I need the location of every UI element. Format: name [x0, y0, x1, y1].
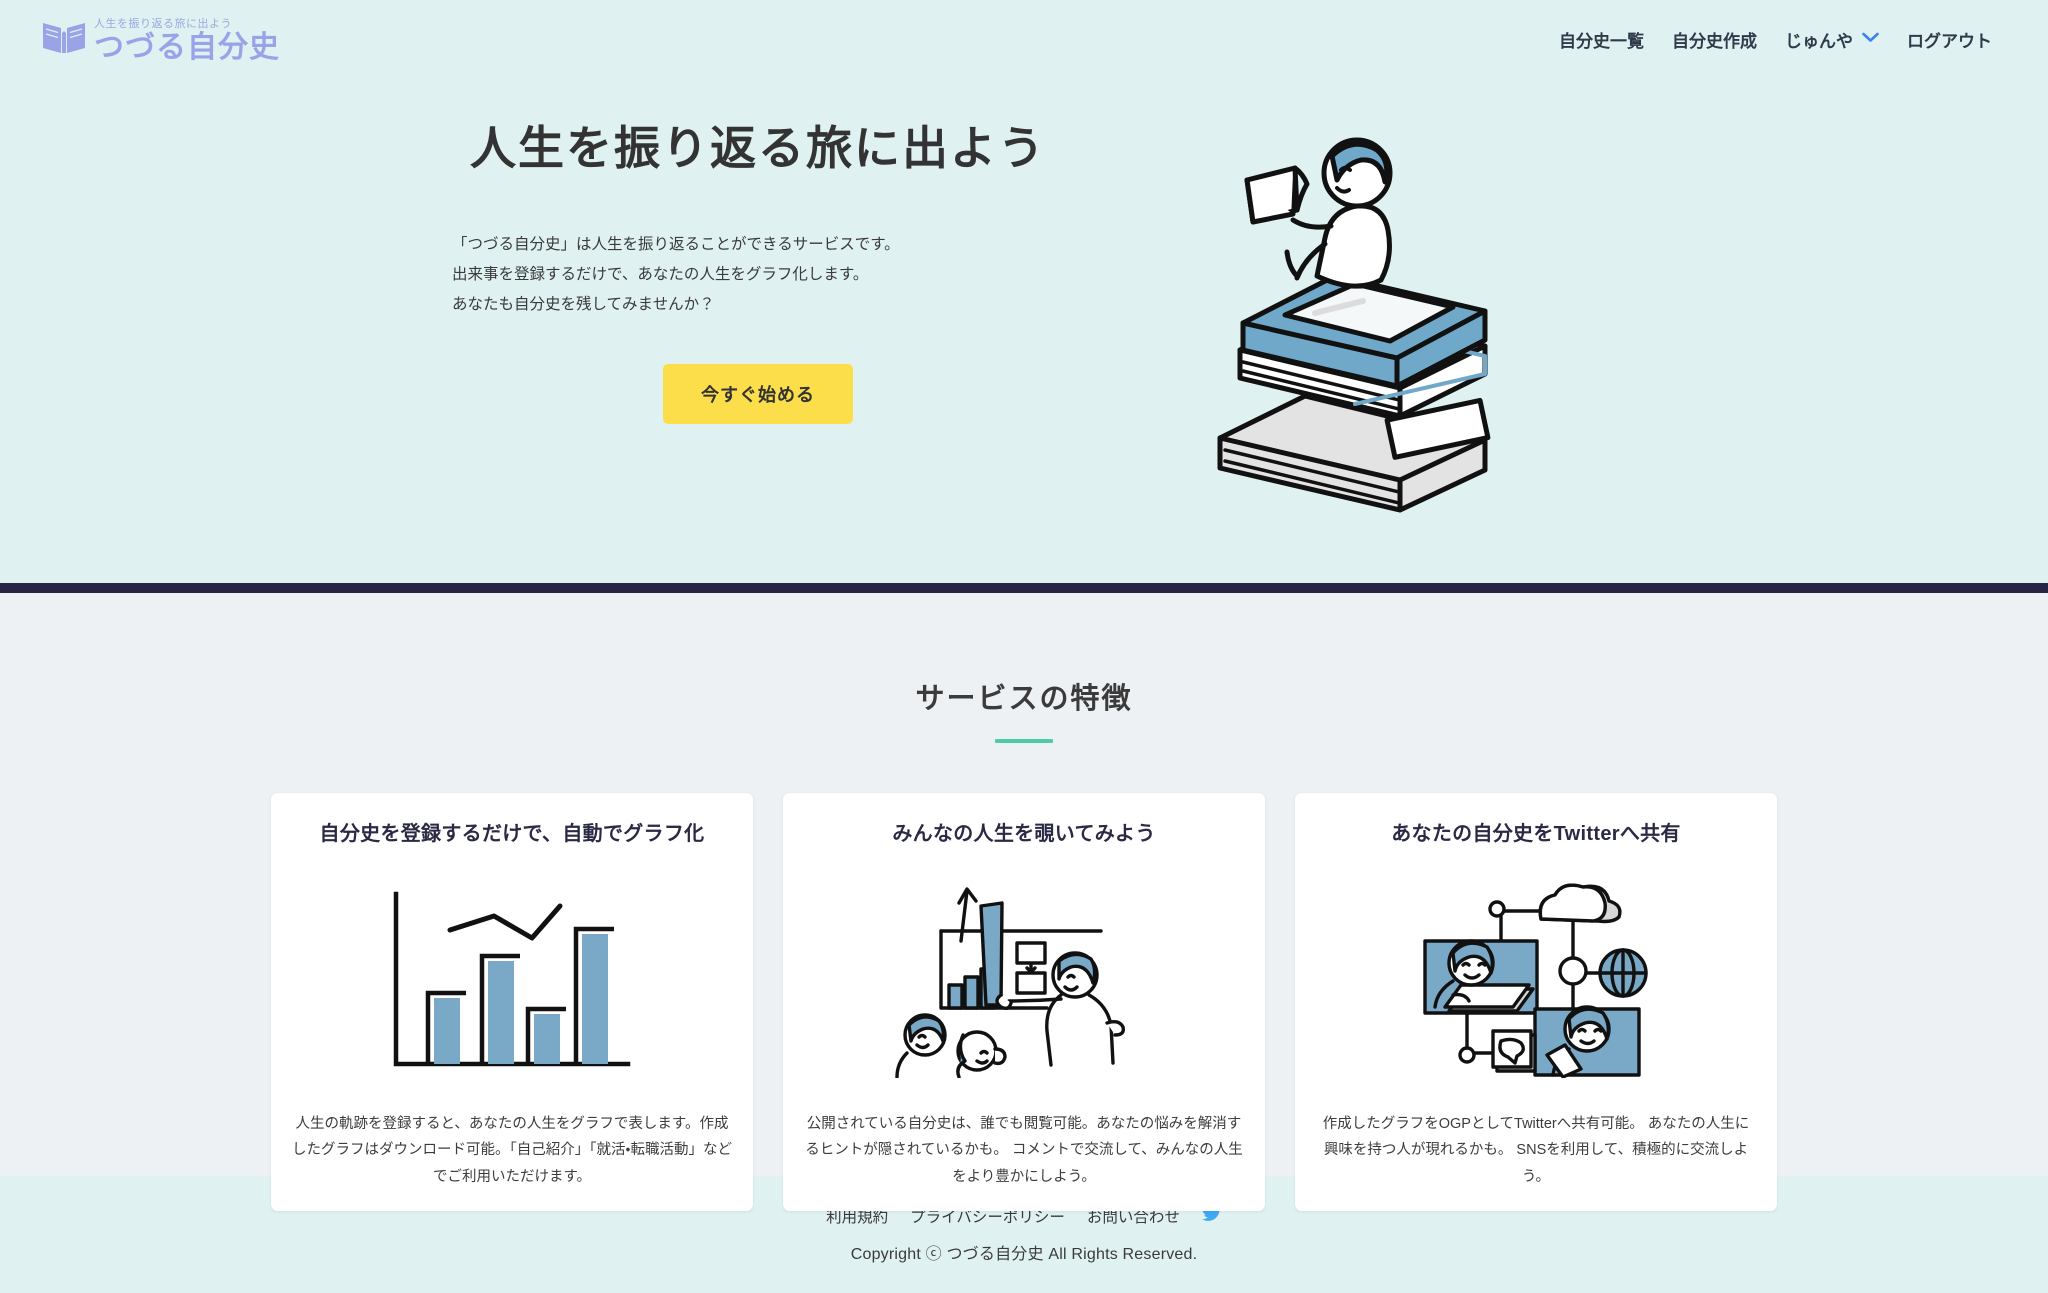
- presentation-with-audience-illustration: [807, 846, 1241, 1111]
- section-divider: [0, 583, 2048, 593]
- hero-copy: 人生を振り返る旅に出よう 「つづる自分史」は人生を振り返ることができるサービスで…: [448, 120, 1068, 424]
- feature-cards: 自分史を登録するだけで、自動でグラフ化: [0, 793, 2048, 1211]
- hero-description-line-2: 出来事を登録するだけで、あなたの人生をグラフ化します。: [452, 260, 1068, 290]
- features-title-underline: [995, 739, 1053, 743]
- hero-title: 人生を振り返る旅に出よう: [448, 120, 1068, 178]
- features-title: サービスの特徴: [0, 675, 2048, 717]
- person-reading-on-books-illustration: [1185, 118, 1525, 518]
- feature-card-twitter-share: あなたの自分史をTwitterへ共有: [1295, 793, 1777, 1211]
- hero-description-line-3: あなたも自分史を残してみませんか？: [452, 290, 1068, 320]
- feature-card-graph: 自分史を登録するだけで、自動でグラフ化: [271, 793, 753, 1211]
- feature-card-body: 作成したグラフをOGPとしてTwitterへ共有可能。 あなたの人生に興味を持つ…: [1316, 1111, 1756, 1191]
- feature-card-title: 自分史を登録するだけで、自動でグラフ化: [320, 817, 705, 846]
- social-network-sharing-illustration: [1319, 846, 1753, 1111]
- hero-section: 人生を振り返る旅に出よう つづる自分史 自分史一覧 自分史作成 じゅんや ログア…: [0, 0, 2048, 583]
- hero-description: 「つづる自分史」は人生を振り返ることができるサービスです。 出来事を登録するだけ…: [448, 230, 1068, 321]
- start-now-button[interactable]: 今すぐ始める: [663, 364, 853, 424]
- feature-card-browse: みんなの人生を覗いてみよう: [783, 793, 1265, 1211]
- feature-card-title: みんなの人生を覗いてみよう: [892, 817, 1155, 846]
- feature-card-title: あなたの自分史をTwitterへ共有: [1391, 817, 1680, 846]
- hero-description-line-1: 「つづる自分史」は人生を振り返ることができるサービスです。: [452, 230, 1068, 260]
- bar-chart-with-trend-line-illustration: [295, 846, 729, 1111]
- feature-card-body: 人生の軌跡を登録すると、あなたの人生をグラフで表します。作成したグラフはダウンロ…: [292, 1111, 732, 1191]
- feature-card-body: 公開されている自分史は、誰でも閲覧可能。あなたの悩みを解消するヒントが隠されてい…: [804, 1111, 1244, 1191]
- features-section: サービスの特徴 自分史を登録するだけで、自動でグラフ化: [0, 593, 2048, 1176]
- footer-copyright: Copyright ⓒ つづる自分史 All Rights Reserved.: [851, 1240, 1198, 1264]
